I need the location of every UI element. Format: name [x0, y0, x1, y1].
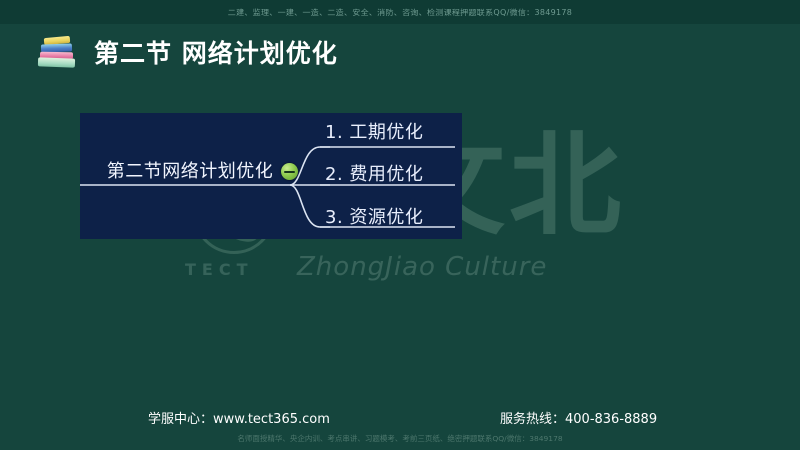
- mindmap-diagram: 第二节网络计划优化 1. 工期优化 2. 费用优化 3. 资源优化: [80, 113, 462, 239]
- promo-bar: 二建、监理、一建、一造、二造、安全、消防、咨询、检测课程押题联系QQ/微信：38…: [0, 0, 800, 24]
- title-row: 第二节 网络计划优化: [36, 30, 338, 74]
- mindmap-child-1-label: 1. 工期优化: [325, 118, 423, 144]
- mindmap-child-2-label: 2. 费用优化: [325, 160, 423, 186]
- footer-hotline: 服务热线：400-836-8889: [500, 408, 657, 427]
- watermark-brand-mark: TECT: [185, 260, 254, 279]
- footer: 学服中心：www.tect365.com 服务热线：400-836-8889: [0, 408, 800, 428]
- minus-glyph: [284, 171, 295, 173]
- mindmap-root-label: 第二节网络计划优化: [90, 157, 290, 183]
- minus-circle-collapse-icon[interactable]: [281, 163, 298, 180]
- slide-canvas: 二建、监理、一建、一造、二造、安全、消防、咨询、检测课程押题联系QQ/微信：38…: [0, 0, 800, 450]
- footer-service-site: 学服中心：www.tect365.com: [148, 408, 330, 427]
- mindmap-child-3-label: 3. 资源优化: [325, 203, 423, 229]
- watermark-english-text: ZhongJiao Culture: [297, 252, 547, 282]
- promo-bar-text: 二建、监理、一建、一造、二造、安全、消防、咨询、检测课程押题联系QQ/微信：38…: [228, 7, 572, 17]
- book-layer-green: [38, 57, 75, 67]
- stacked-books-icon: [36, 33, 80, 71]
- page-title: 第二节 网络计划优化: [94, 34, 338, 70]
- footer-fineprint: 名师面授精华、央企内训、考点串讲、习题模考、考前三页纸、绝密押题联系QQ/微信：…: [0, 433, 800, 443]
